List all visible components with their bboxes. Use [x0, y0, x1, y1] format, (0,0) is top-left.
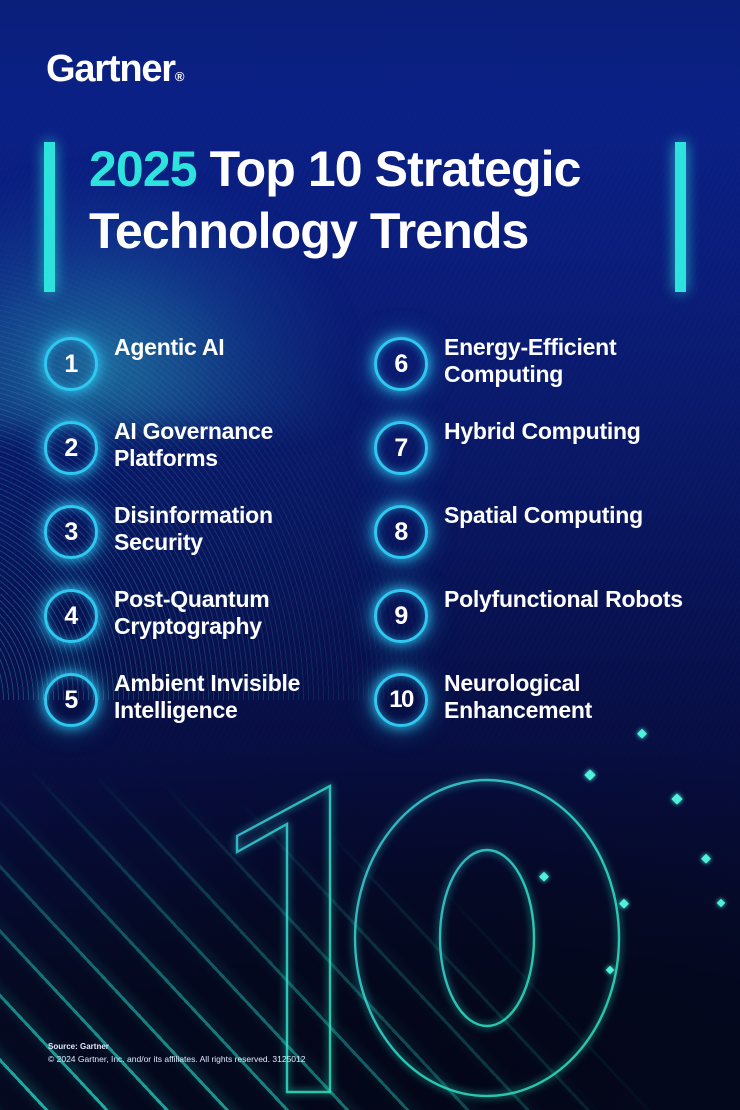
rank-badge: 4 [44, 589, 98, 643]
title-block: 2025 Top 10 Strategic Technology Trends [44, 142, 696, 294]
trend-item[interactable]: 3 Disinformation Security [44, 496, 374, 580]
trend-label: Post-Quantum Cryptography [114, 580, 364, 640]
trend-item[interactable]: 10 Neurological Enhancement [374, 664, 704, 748]
rank-badge: 1 [44, 337, 98, 391]
trend-label: Polyfunctional Robots [444, 580, 683, 613]
footer: Source: Gartner © 2024 Gartner, Inc. and… [48, 1041, 305, 1066]
rank-number: 3 [44, 505, 98, 559]
rank-number: 10 [374, 673, 428, 727]
trend-label: Neurological Enhancement [444, 664, 694, 724]
rank-badge: 3 [44, 505, 98, 559]
trend-item[interactable]: 8 Spatial Computing [374, 496, 704, 580]
registered-trademark-icon: ® [175, 69, 185, 84]
rank-badge: 9 [374, 589, 428, 643]
trend-item[interactable]: 9 Polyfunctional Robots [374, 580, 704, 664]
trend-item[interactable]: 4 Post-Quantum Cryptography [44, 580, 374, 664]
trend-item[interactable]: 2 AI Governance Platforms [44, 412, 374, 496]
rank-number: 6 [374, 337, 428, 391]
trend-label: Disinformation Security [114, 496, 364, 556]
source-text: Source: Gartner [48, 1041, 305, 1053]
rank-number: 1 [44, 337, 98, 391]
trend-label: Energy-Efficient Computing [444, 328, 694, 388]
trend-item[interactable]: 6 Energy-Efficient Computing [374, 328, 704, 412]
rank-number: 8 [374, 505, 428, 559]
trend-label: Agentic AI [114, 328, 224, 361]
rank-number: 5 [44, 673, 98, 727]
rank-badge: 5 [44, 673, 98, 727]
infographic-poster: Gartner® 2025 Top 10 Strategic Technolog… [0, 0, 740, 1110]
rank-badge: 8 [374, 505, 428, 559]
trend-item[interactable]: 1 Agentic AI [44, 328, 374, 412]
rank-badge: 2 [44, 421, 98, 475]
rank-number: 2 [44, 421, 98, 475]
rank-badge: 7 [374, 421, 428, 475]
trends-column-right: 6 Energy-Efficient Computing 7 Hybrid Co… [374, 328, 704, 748]
trend-item[interactable]: 5 Ambient Invisible Intelligence [44, 664, 374, 748]
rank-number: 7 [374, 421, 428, 475]
page-title: 2025 Top 10 Strategic Technology Trends [89, 138, 684, 262]
rank-number: 9 [374, 589, 428, 643]
rank-badge: 10 [374, 673, 428, 727]
trend-label: Ambient Invisible Intelligence [114, 664, 364, 724]
trend-item[interactable]: 7 Hybrid Computing [374, 412, 704, 496]
trend-label: AI Governance Platforms [114, 412, 364, 472]
title-year: 2025 [89, 141, 197, 197]
trend-label: Spatial Computing [444, 496, 643, 529]
gartner-logo: Gartner® [46, 48, 184, 91]
trends-columns: 1 Agentic AI 2 AI Governance Platforms 3… [44, 328, 704, 748]
logo-wordmark: Gartner [46, 48, 175, 90]
copyright-text: © 2024 Gartner, Inc. and/or its affiliat… [48, 1053, 305, 1066]
trend-label: Hybrid Computing [444, 412, 641, 445]
rank-number: 4 [44, 589, 98, 643]
rank-badge: 6 [374, 337, 428, 391]
trends-column-left: 1 Agentic AI 2 AI Governance Platforms 3… [44, 328, 374, 748]
title-accent-bar-left [44, 142, 55, 292]
